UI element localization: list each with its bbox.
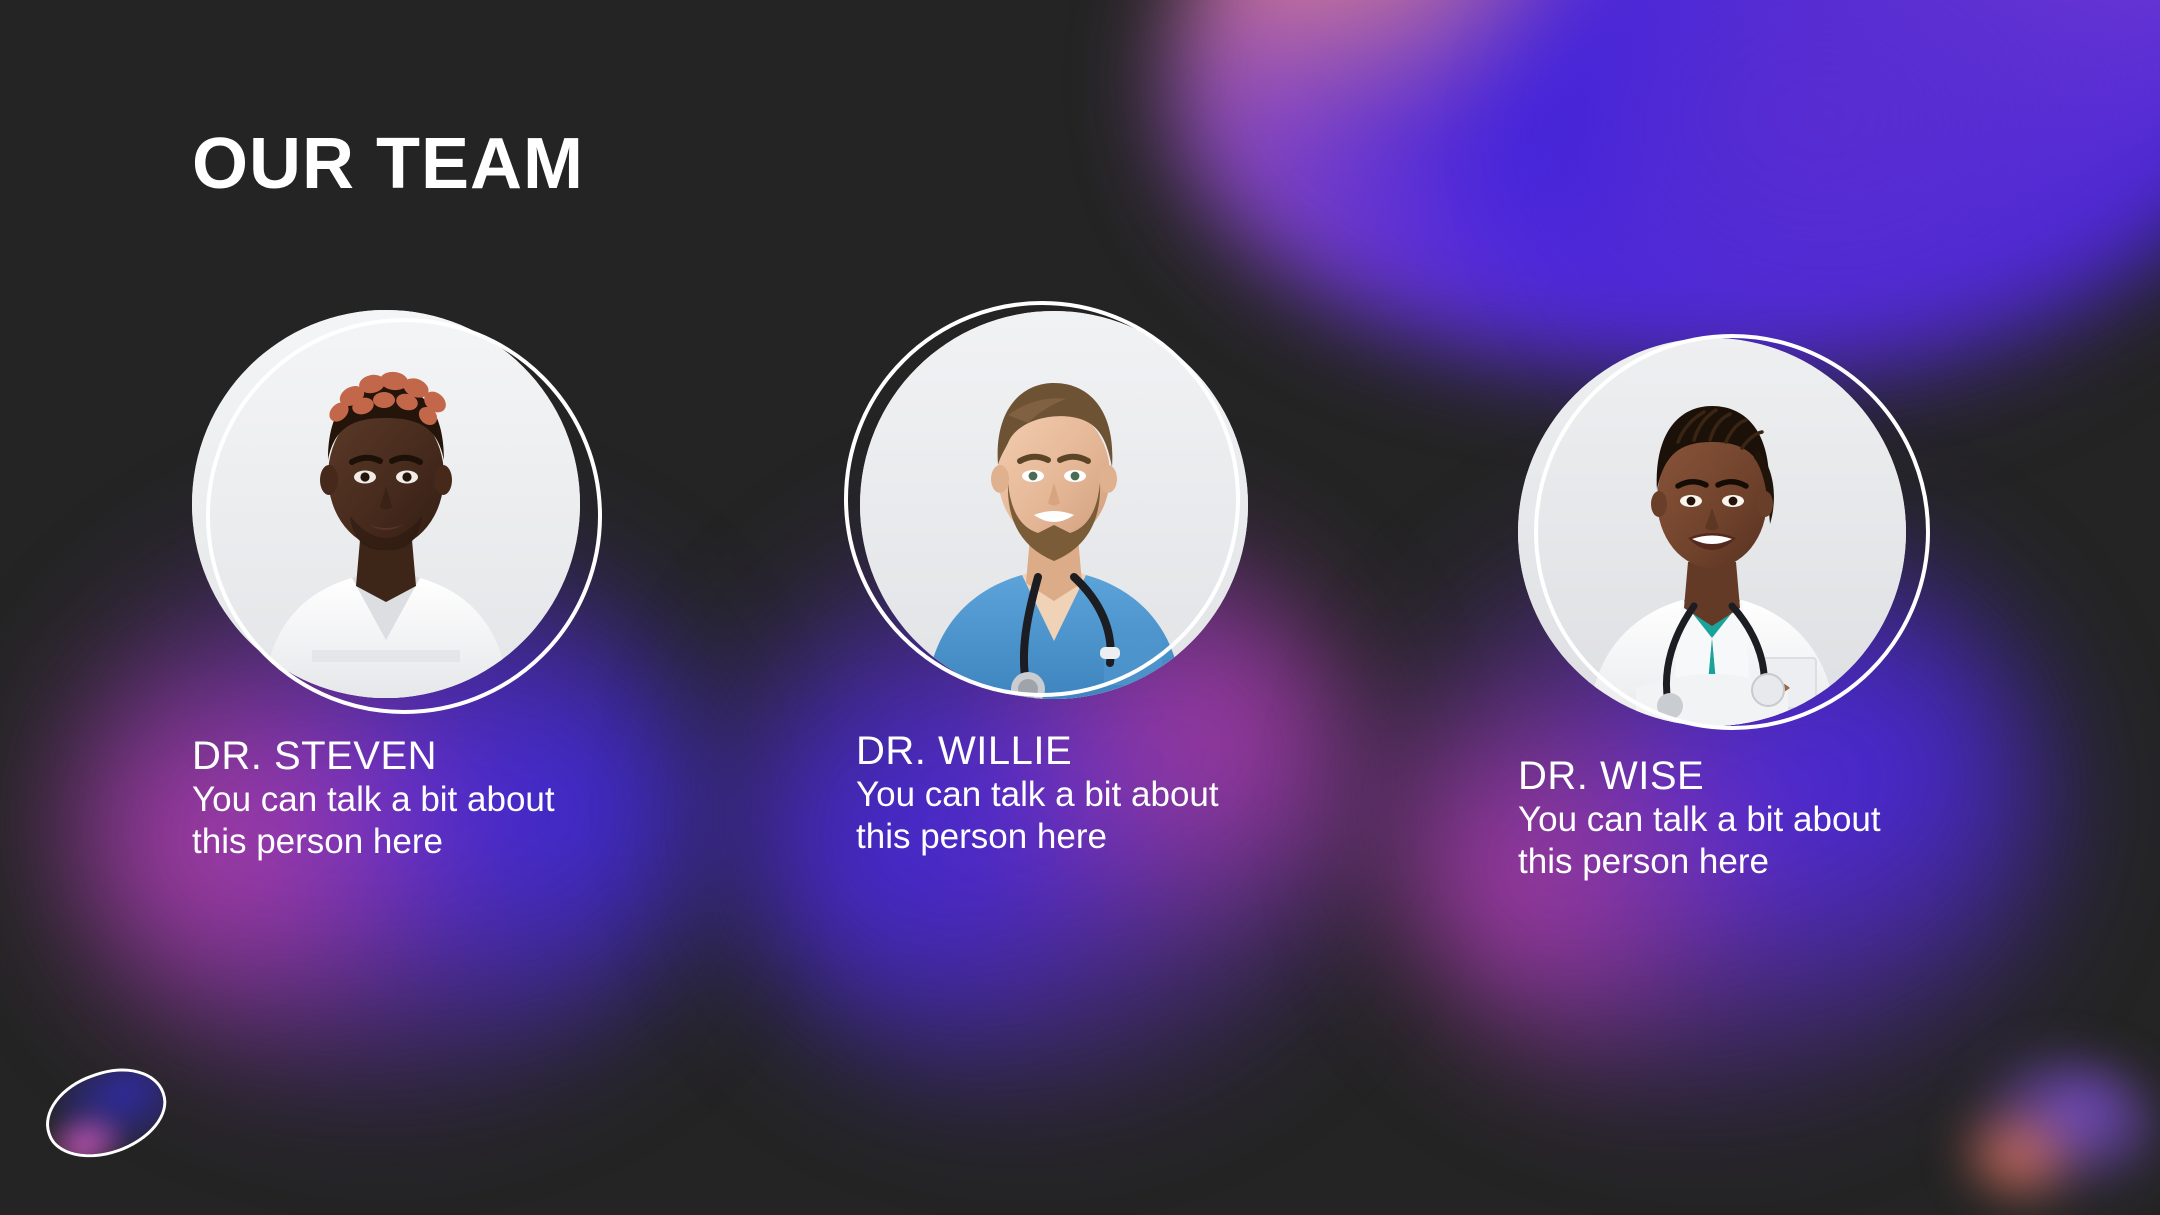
team-member-card[interactable]: DR. WILLIE You can talk a bit about this… — [856, 305, 1276, 858]
avatar — [856, 305, 1256, 705]
member-text-block: DR. STEVEN You can talk a bit about this… — [192, 734, 612, 863]
member-name: DR. WISE — [1518, 754, 1938, 799]
avatar — [192, 310, 592, 710]
member-description: You can talk a bit about this person her… — [1518, 799, 1908, 883]
avatar — [1518, 330, 1918, 730]
avatar-ring — [206, 318, 602, 714]
member-description: You can talk a bit about this person her… — [856, 774, 1246, 858]
member-text-block: DR. WISE You can talk a bit about this p… — [1518, 754, 1938, 883]
team-member-list: DR. STEVEN You can talk a bit about this… — [0, 0, 2160, 1215]
team-member-card[interactable]: DR. STEVEN You can talk a bit about this… — [192, 310, 612, 863]
team-slide: OUR TEAM — [0, 0, 2160, 1215]
member-name: DR. STEVEN — [192, 734, 612, 779]
avatar-ring — [1534, 334, 1930, 730]
member-text-block: DR. WILLIE You can talk a bit about this… — [856, 729, 1276, 858]
member-description: You can talk a bit about this person her… — [192, 779, 582, 863]
team-member-card[interactable]: DR. WISE You can talk a bit about this p… — [1518, 330, 1938, 883]
member-name: DR. WILLIE — [856, 729, 1276, 774]
avatar-ring — [844, 301, 1240, 697]
